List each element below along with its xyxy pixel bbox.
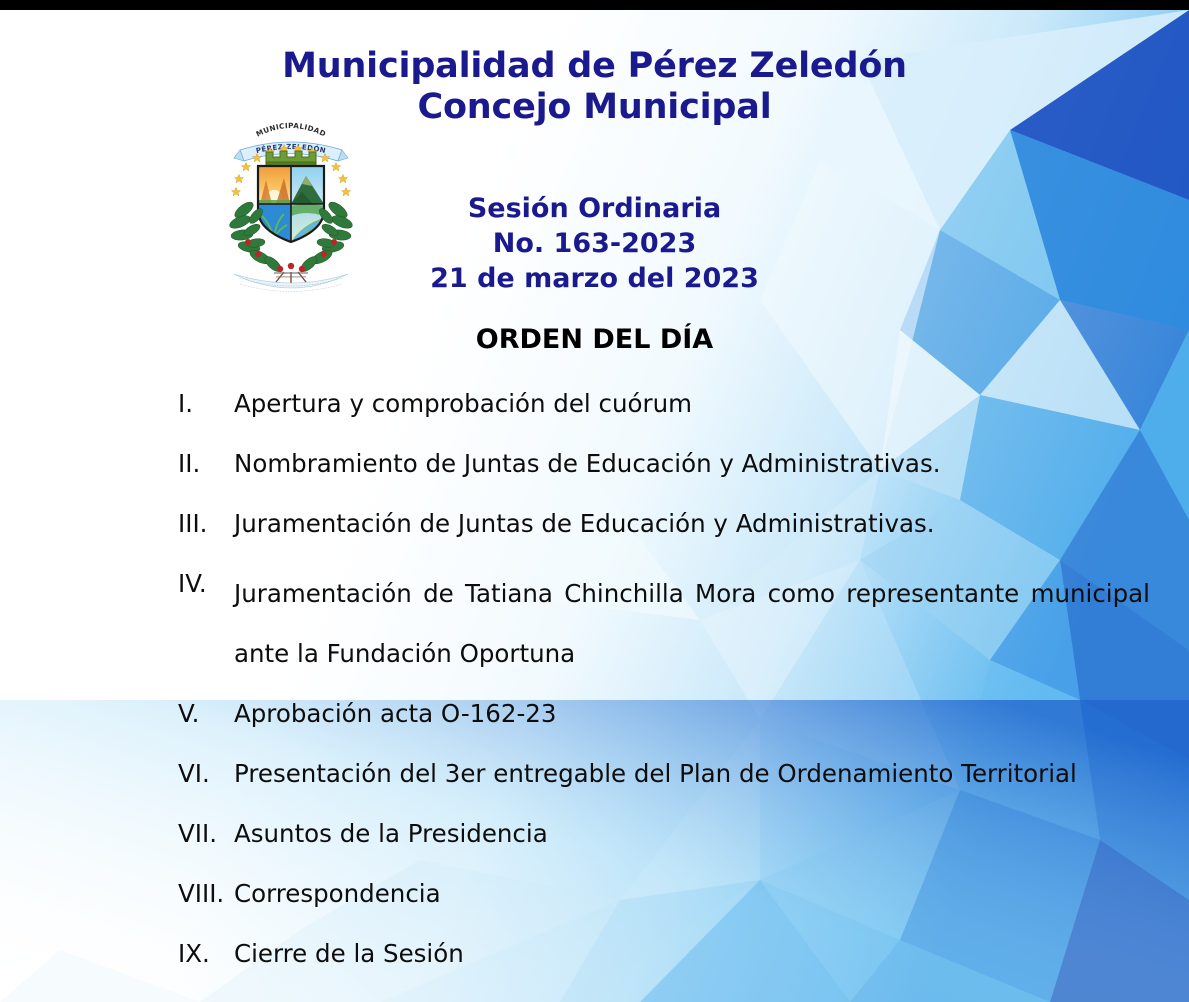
agenda-item-numeral: VII.: [178, 814, 234, 854]
page-title: Municipalidad de Pérez Zeledón Concejo M…: [0, 46, 1189, 128]
session-type: Sesión Ordinaria: [0, 191, 1189, 226]
agenda-item-label: Nombramiento de Juntas de Educación y Ad…: [234, 444, 1150, 484]
agenda-item-label: Juramentación de Juntas de Educación y A…: [234, 504, 1150, 544]
top-black-bar: [0, 0, 1189, 10]
agenda-item-numeral: VI.: [178, 754, 234, 794]
agenda-list: I. Apertura y comprobación del cuórum II…: [178, 384, 1150, 974]
agenda-item: V. Aprobación acta O-162-23: [178, 694, 1150, 734]
session-date: 21 de marzo del 2023: [0, 261, 1189, 296]
agenda-item-numeral: V.: [178, 694, 234, 734]
agenda-item-numeral: IV.: [178, 564, 234, 604]
agenda-item-label: Asuntos de la Presidencia: [234, 814, 1150, 854]
agenda-item-label: Juramentación de Tatiana Chinchilla Mora…: [234, 564, 1150, 684]
agenda-item-label: Correspondencia: [234, 874, 1150, 914]
agenda-item: II. Nombramiento de Juntas de Educación …: [178, 444, 1150, 484]
agenda-item-label: Apertura y comprobación del cuórum: [234, 384, 1150, 424]
agenda-slide: Municipalidad de Pérez Zeledón Concejo M…: [0, 0, 1189, 1002]
agenda-item: VIII. Correspondencia: [178, 874, 1150, 914]
agenda-item: IV. Juramentación de Tatiana Chinchilla …: [178, 564, 1150, 684]
agenda-item: VI. Presentación del 3er entregable del …: [178, 754, 1150, 794]
organization-line1: Municipalidad de Pérez Zeledón: [282, 46, 907, 86]
agenda-item: VII. Asuntos de la Presidencia: [178, 814, 1150, 854]
agenda-item: I. Apertura y comprobación del cuórum: [178, 384, 1150, 424]
agenda-heading: ORDEN DEL DÍA: [0, 323, 1189, 357]
agenda-item-label: Cierre de la Sesión: [234, 934, 1150, 974]
agenda-item-label: Aprobación acta O-162-23: [234, 694, 1150, 734]
agenda-item-label: Presentación del 3er entregable del Plan…: [234, 754, 1150, 794]
agenda-item-numeral: I.: [178, 384, 234, 424]
agenda-item-numeral: VIII.: [178, 874, 234, 914]
organization-line2: Concejo Municipal: [0, 87, 1189, 128]
agenda-item-numeral: II.: [178, 444, 234, 484]
agenda-item: III. Juramentación de Juntas de Educació…: [178, 504, 1150, 544]
agenda-item-numeral: IX.: [178, 934, 234, 974]
session-info: Sesión Ordinaria No. 163-2023 21 de marz…: [0, 191, 1189, 296]
agenda-item-numeral: III.: [178, 504, 234, 544]
emblem-banner-top-text: MUNICIPALIDAD: [255, 121, 328, 139]
agenda-item: IX. Cierre de la Sesión: [178, 934, 1150, 974]
session-number: No. 163-2023: [0, 226, 1189, 261]
